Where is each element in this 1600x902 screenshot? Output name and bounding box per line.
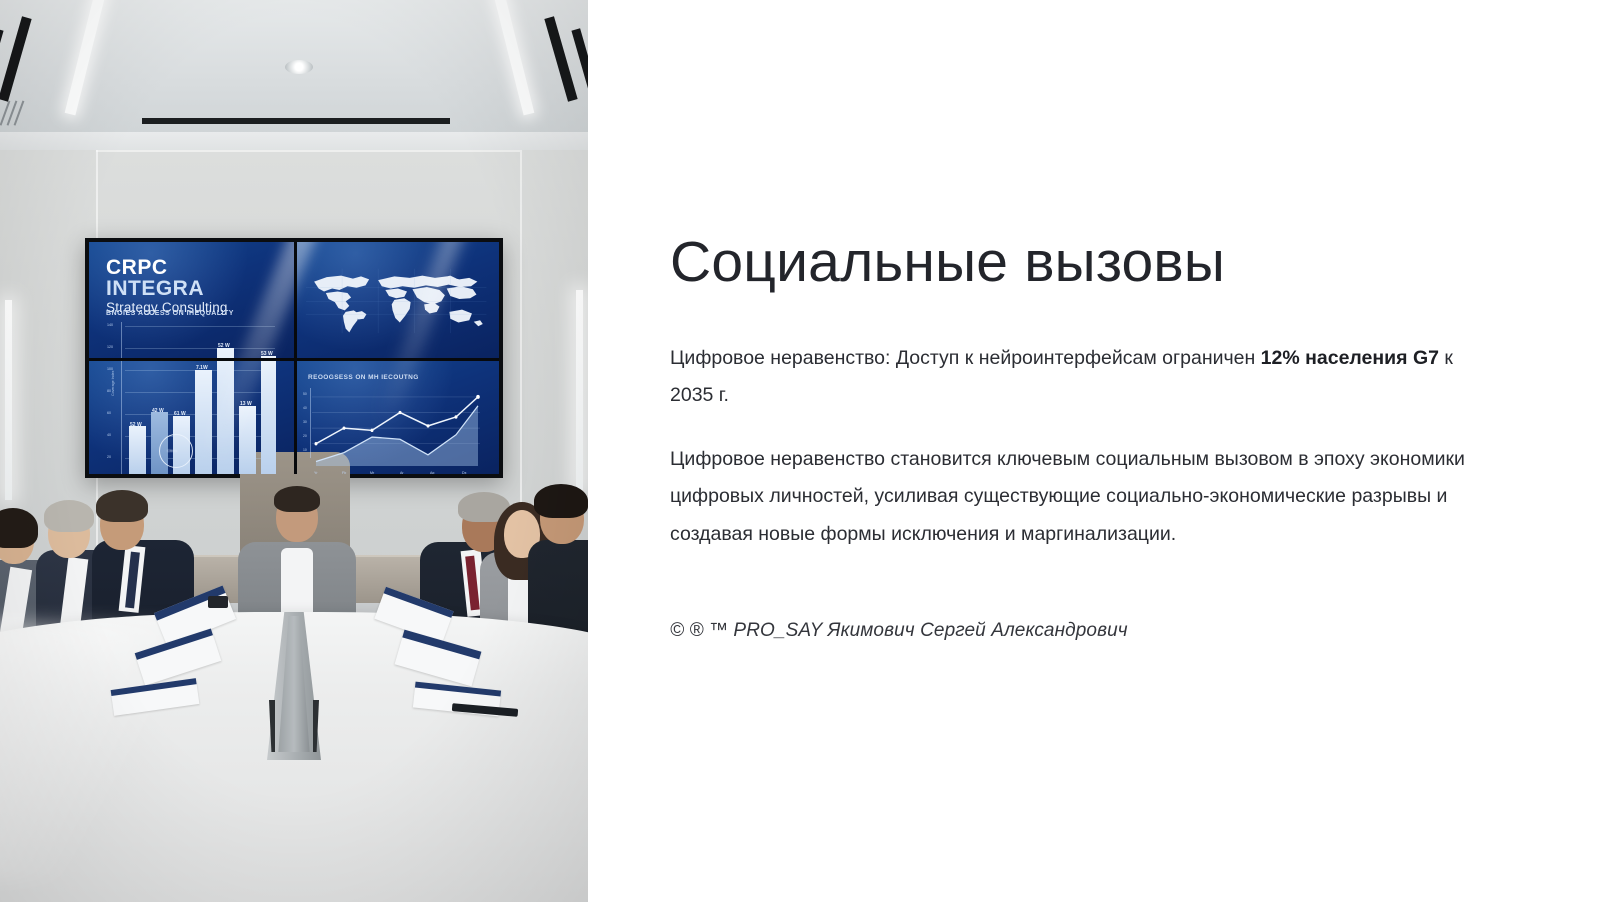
bar — [239, 406, 256, 474]
bar-data-label: 42 W — [152, 408, 164, 414]
line-y-tick: 40 — [303, 406, 307, 410]
bar-data-label: 13 W — [240, 401, 252, 407]
line-chart-title: REOOGSESS ON MH IECOUTNG — [308, 374, 419, 381]
bar-chart: 140 120 100 80 60 40 20 Coverage Index 5… — [115, 322, 275, 474]
line-x-label: Yr — [314, 471, 318, 474]
ceiling-black-recess-bar — [142, 118, 450, 124]
bar — [195, 370, 212, 474]
bar-chart-highlight-ring: Cltrss — [159, 434, 193, 468]
brand-line-2: INTEGRA — [106, 279, 228, 300]
bar — [261, 356, 276, 474]
wall-seam-horizontal — [96, 150, 520, 152]
bar-data-label: 52 W — [218, 343, 230, 349]
world-map-icon — [294, 242, 499, 358]
phone — [208, 596, 228, 608]
brand-line-1: CRPC — [106, 258, 228, 279]
body-paragraph: Цифровое неравенство становится ключевым… — [670, 441, 1475, 553]
line-y-tick: 30 — [303, 420, 307, 424]
video-wall-grid: CRPC INTEGRA Strategy Consulting BNOIES … — [89, 242, 499, 474]
boardroom-photo: CRPC INTEGRA Strategy Consulting BNOIES … — [0, 0, 588, 902]
lead-text-before: Цифровое неравенство: Доступ к нейроинте… — [670, 347, 1261, 369]
bar-data-label: 7.1W — [196, 365, 208, 371]
presentation-slide: CRPC INTEGRA Strategy Consulting BNOIES … — [0, 0, 1600, 902]
bar — [129, 426, 146, 474]
screen-pane-top-right — [294, 242, 499, 358]
line-x-label: Dx — [462, 471, 466, 474]
line-y-tick: 20 — [303, 434, 307, 438]
bar-data-label: 53 W — [261, 351, 273, 357]
hair — [274, 486, 320, 512]
wall-light-strip-left — [5, 300, 12, 500]
bar — [217, 348, 234, 474]
line-y-tick: 10 — [303, 448, 307, 452]
lead-paragraph: Цифровое неравенство: Доступ к нейроинте… — [670, 340, 1470, 415]
line-x-label: Fb — [342, 471, 346, 474]
bar-chart-y-axis — [121, 322, 122, 474]
wall-light-strip-right — [576, 290, 583, 490]
bar-y-tick: 20 — [107, 455, 111, 459]
video-wall-seam-horizontal — [89, 358, 499, 361]
line-chart: 50 40 30 20 10 Yr Fb Mr Ar Ag Dx Lorwelu — [310, 388, 482, 466]
line-chart-y-axis — [310, 388, 311, 458]
bar-data-label: 52 W — [130, 422, 142, 428]
copyright-signature: © ® ™ PRO_SAY Якимович Сергей Александро… — [670, 620, 1128, 642]
lead-highlight: 12% населения G7 — [1261, 347, 1439, 369]
line-x-label: Mr — [370, 471, 374, 474]
ceiling-downlight-icon — [285, 60, 313, 74]
line-y-tick: 50 — [303, 392, 307, 396]
bar-y-tick: 40 — [107, 433, 111, 437]
screen-brand-logo: CRPC INTEGRA Strategy Consulting — [106, 258, 228, 315]
highlight-label: Cltrss — [167, 448, 177, 453]
bar-data-label: 61 W — [174, 411, 186, 417]
ceiling-band — [0, 132, 588, 152]
page-title: Социальные вызовы — [670, 232, 1225, 294]
ceiling-vent-lines — [2, 100, 44, 126]
hair — [534, 484, 588, 518]
bar-y-tick: 140 — [107, 323, 113, 327]
slide-text-panel: Социальные вызовы Цифровое неравенство: … — [588, 0, 1600, 902]
line-x-label: Ar — [400, 471, 404, 474]
video-wall-display: CRPC INTEGRA Strategy Consulting BNOIES … — [85, 238, 503, 478]
bar-chart-title: BNOIES ACCESS ON IHEQUALITY — [106, 310, 234, 317]
bar-y-tick: 120 — [107, 345, 113, 349]
hair-gray — [44, 500, 94, 532]
line-x-label: Ag — [430, 471, 434, 474]
bar-y-axis-label: Coverage Index — [111, 371, 115, 396]
screen-pane-bottom-right: REOOGSESS ON MH IECOUTNG — [294, 358, 499, 474]
bar-y-tick: 60 — [107, 411, 111, 415]
hair — [96, 490, 148, 522]
